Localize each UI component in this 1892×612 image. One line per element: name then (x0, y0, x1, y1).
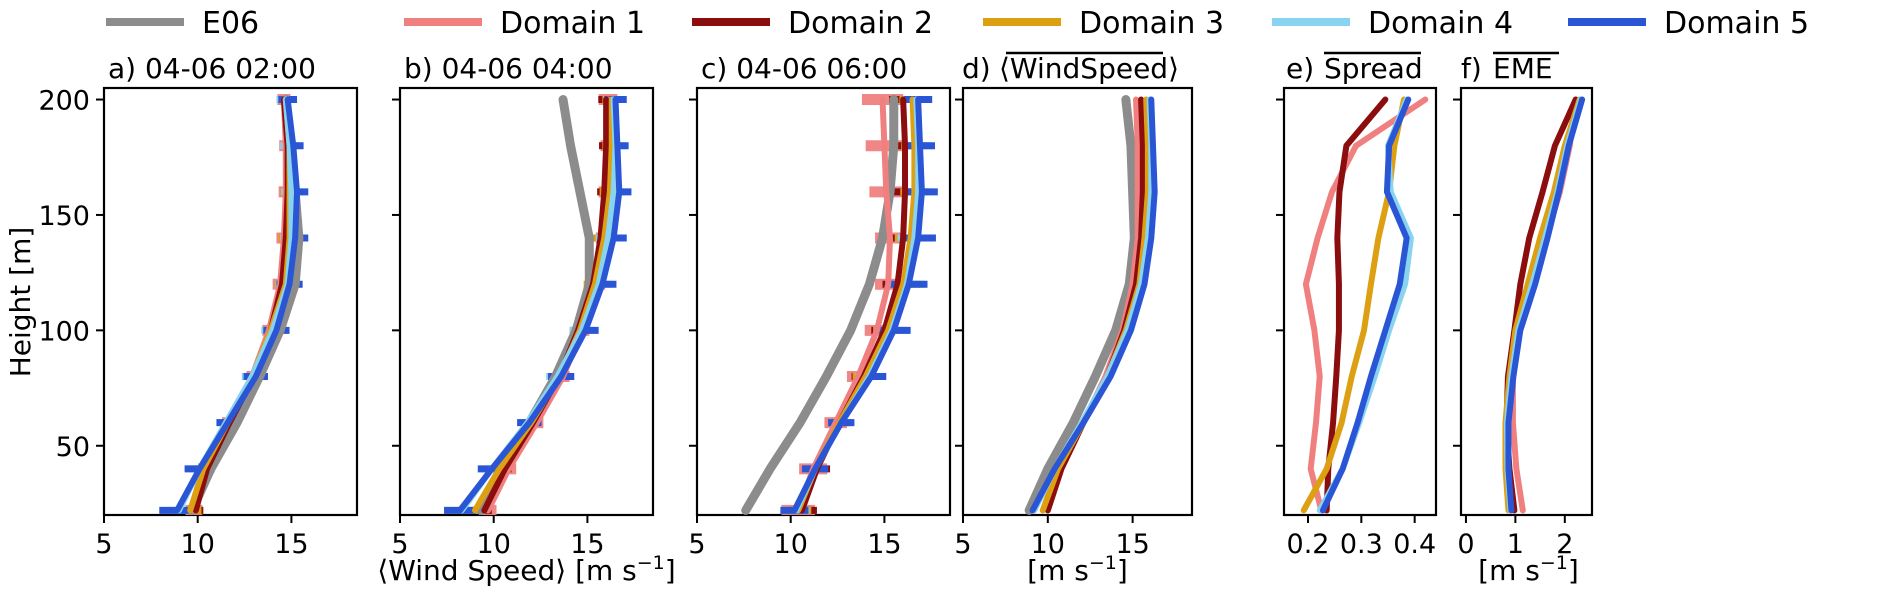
errorbars-b-4 (450, 100, 626, 511)
panel-d: d) ⟨WindSpeed⟩51015 (954, 52, 1192, 560)
xtick-label-a-15: 15 (274, 529, 308, 560)
xtick-label-e-0.4: 0.4 (1393, 529, 1436, 560)
series-line-b-e06 (481, 100, 590, 511)
legend-item-domain-3-label: Domain 3 (1079, 6, 1224, 41)
panel-title-e: Spread (1324, 52, 1423, 85)
xtick-label-a-5: 5 (95, 529, 112, 560)
legend-item-domain-1-label: Domain 1 (500, 6, 645, 41)
panel-a: a) 04-06 02:005010015020051015 (38, 52, 357, 560)
panel-data-a (159, 100, 308, 511)
xtick-label-e-0.3: 0.3 (1340, 529, 1383, 560)
legend-item-domain-4-label: Domain 4 (1368, 6, 1513, 41)
x-axis-label-main: ⟨Wind Speed⟩ [m s−1] (377, 552, 675, 587)
legend-item: Domain 5 (1568, 6, 1809, 41)
legend-item: Domain 1 (404, 6, 645, 41)
ytick-label-100: 100 (38, 316, 90, 347)
y-axis-label: Height [m] (4, 227, 37, 378)
series-line-b-domain-5 (460, 100, 619, 511)
panel-title-b: b) 04-06 04:00 (404, 52, 613, 85)
xtick-label-d-5: 5 (954, 529, 971, 560)
panel-data-b (444, 100, 631, 511)
panel-title-d-prefix: d) (962, 52, 991, 85)
x-axis-label-f: [m s−1] (1478, 552, 1579, 587)
panel-title-d: ⟨WindSpeed⟩ (999, 52, 1179, 85)
legend-item-domain-2-label: Domain 2 (788, 6, 933, 41)
legend-item: Domain 3 (983, 6, 1224, 41)
legend: E06Domain 1Domain 2Domain 3Domain 4Domai… (106, 6, 1809, 41)
xtick-label-a-10: 10 (181, 529, 215, 560)
panel-title-a: a) 04-06 02:00 (108, 52, 316, 85)
series-line-c-domain-1 (798, 100, 890, 511)
panel-data-c (746, 100, 938, 511)
panel-e: e) Spread0.20.30.4 (1276, 52, 1436, 560)
panel-f: f) EME012 (1453, 52, 1592, 560)
xtick-label-c-15: 15 (867, 529, 901, 560)
panel-data-d (1029, 100, 1155, 511)
ytick-label-200: 200 (38, 86, 90, 117)
ytick-label-150: 150 (38, 201, 90, 232)
legend-item: E06 (106, 6, 259, 41)
panel-data-e (1304, 100, 1426, 511)
panel-title-c: c) 04-06 06:00 (701, 52, 907, 85)
panel-c: c) 04-06 06:0051015 (688, 52, 950, 560)
figure-root: E06Domain 1Domain 2Domain 3Domain 4Domai… (0, 0, 1892, 612)
panel-b: b) 04-06 04:0051015 (391, 52, 653, 560)
legend-item-domain-5-label: Domain 5 (1664, 6, 1809, 41)
figure-canvas: E06Domain 1Domain 2Domain 3Domain 4Domai… (0, 0, 1892, 612)
legend-item: Domain 2 (692, 6, 933, 41)
x-axis-label-d: [m s−1] (1027, 552, 1128, 587)
panel-frame-a (104, 88, 357, 515)
xtick-label-f-0: 0 (1457, 529, 1474, 560)
panel-title-e-prefix: e) (1286, 52, 1314, 85)
legend-item: Domain 4 (1272, 6, 1513, 41)
panel-title-f-prefix: f) (1461, 52, 1482, 85)
series-line-d-e06 (1029, 100, 1134, 511)
xtick-label-c-5: 5 (688, 529, 705, 560)
panel-frame-d (963, 88, 1192, 515)
panel-data-f (1505, 100, 1582, 511)
ytick-label-50: 50 (56, 432, 90, 463)
xtick-label-e-0.2: 0.2 (1287, 529, 1330, 560)
xtick-label-c-10: 10 (774, 529, 808, 560)
legend-item-e06-label: E06 (202, 6, 259, 41)
panel-title-f: EME (1493, 52, 1553, 85)
